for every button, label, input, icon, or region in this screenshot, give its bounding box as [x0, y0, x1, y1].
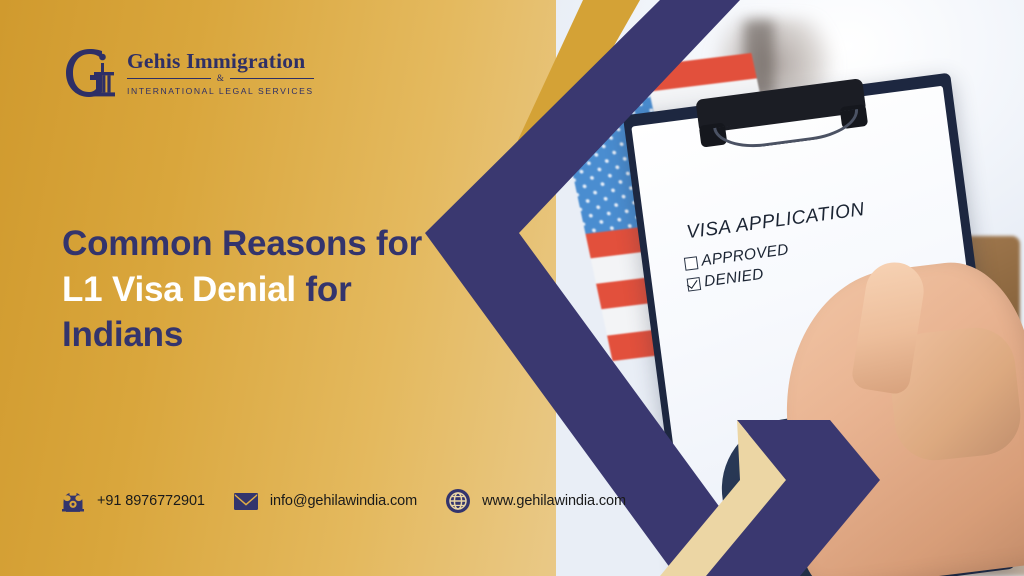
headline-line-3: Indians	[62, 315, 183, 354]
hero-photo: VISA APPLICATION APPROVED DENIED	[556, 0, 1024, 576]
globe-icon	[443, 486, 473, 516]
divider-rule-left	[127, 78, 211, 79]
pillar-g-icon	[62, 44, 118, 102]
contact-email-value: info@gehilawindia.com	[270, 493, 417, 509]
brand-logo-text: Gehis Immigration & INTERNATIONAL LEGAL …	[127, 50, 314, 97]
divider-rule-right	[230, 78, 314, 79]
page-title: Common Reasons for L1 Visa Denial for In…	[62, 221, 492, 358]
contact-email[interactable]: info@gehilawindia.com	[231, 486, 417, 516]
banner-canvas: VISA APPLICATION APPROVED DENIED	[0, 0, 1024, 576]
brand-name: Gehis Immigration	[127, 50, 314, 73]
contact-website-value: www.gehilawindia.com	[482, 493, 626, 509]
contact-phone-value: +91 8976772901	[97, 493, 205, 509]
brand-logo[interactable]: Gehis Immigration & INTERNATIONAL LEGAL …	[62, 44, 314, 102]
brand-divider-row: &	[127, 74, 314, 83]
checkbox-denied	[687, 277, 702, 292]
headline-accent: L1 Visa Denial	[62, 270, 296, 309]
checkbox-approved	[684, 256, 699, 271]
telephone-icon	[58, 486, 88, 516]
brand-tagline: INTERNATIONAL LEGAL SERVICES	[127, 86, 314, 96]
contact-website[interactable]: www.gehilawindia.com	[443, 486, 626, 516]
contact-phone[interactable]: +91 8976772901	[58, 486, 205, 516]
envelope-icon	[231, 486, 261, 516]
contact-bar: +91 8976772901 info@gehilawindia.com www…	[58, 486, 626, 516]
headline-line-1: Common Reasons for	[62, 224, 422, 263]
headline-line-2-tail: for	[296, 270, 352, 309]
brand-ampersand: &	[217, 74, 224, 83]
